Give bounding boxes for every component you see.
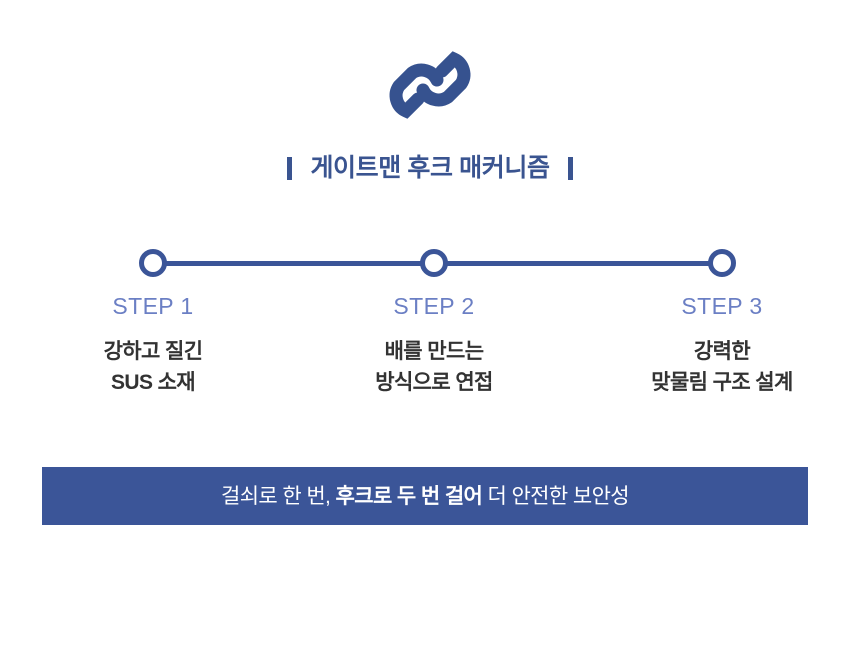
step-description-2-line2: 방식으로 연접 [334,368,534,398]
banner-text-tail: 더 안전한 보안성 [482,485,629,508]
banner-text-lead: 걸쇠로 한 번, [221,485,336,508]
title-bar-right-icon [568,157,573,180]
step-description-2: 배를 만드는 방식으로 연접 [334,337,534,398]
chain-link-icon-container [0,40,860,130]
stepper-track [0,249,860,281]
summary-banner-text: 걸쇠로 한 번, 후크로 두 번 걸어 더 안전한 보안성 [221,486,629,507]
summary-banner: 걸쇠로 한 번, 후크로 두 번 걸어 더 안전한 보안성 [42,467,808,525]
step-item-2: STEP 2 배를 만드는 방식으로 연접 [334,294,534,398]
step-description-3-line2: 맞물림 구조 설계 [622,368,822,398]
hook-mechanism-infographic: 게이트맨 후크 매커니즘 STEP 1 강하고 질긴 SUS 소재 STEP 2… [0,0,860,646]
step-description-1: 강하고 질긴 SUS 소재 [53,337,253,398]
title-bar-left-icon [287,157,292,180]
section-title-row: 게이트맨 후크 매커니즘 [0,148,860,188]
step-description-3: 강력한 맞물림 구조 설계 [622,337,822,398]
page-title: 게이트맨 후크 매커니즘 [310,156,549,181]
step-item-3: STEP 3 강력한 맞물림 구조 설계 [622,294,822,398]
stepper-dot-2 [420,249,448,277]
step-description-1-line1: 강하고 질긴 [53,337,253,367]
step-label-1: STEP 1 [53,294,253,319]
stepper-dot-3 [708,249,736,277]
banner-text-emphasis: 후크로 두 번 걸어 [336,485,483,508]
chain-link-icon [382,42,478,128]
step-label-2: STEP 2 [334,294,534,319]
step-columns: STEP 1 강하고 질긴 SUS 소재 STEP 2 배를 만드는 방식으로 … [0,294,860,424]
step-label-3: STEP 3 [622,294,822,319]
step-item-1: STEP 1 강하고 질긴 SUS 소재 [53,294,253,398]
stepper-dot-1 [139,249,167,277]
step-description-2-line1: 배를 만드는 [334,337,534,367]
step-description-1-line2: SUS 소재 [53,368,253,398]
step-description-3-line1: 강력한 [622,337,822,367]
